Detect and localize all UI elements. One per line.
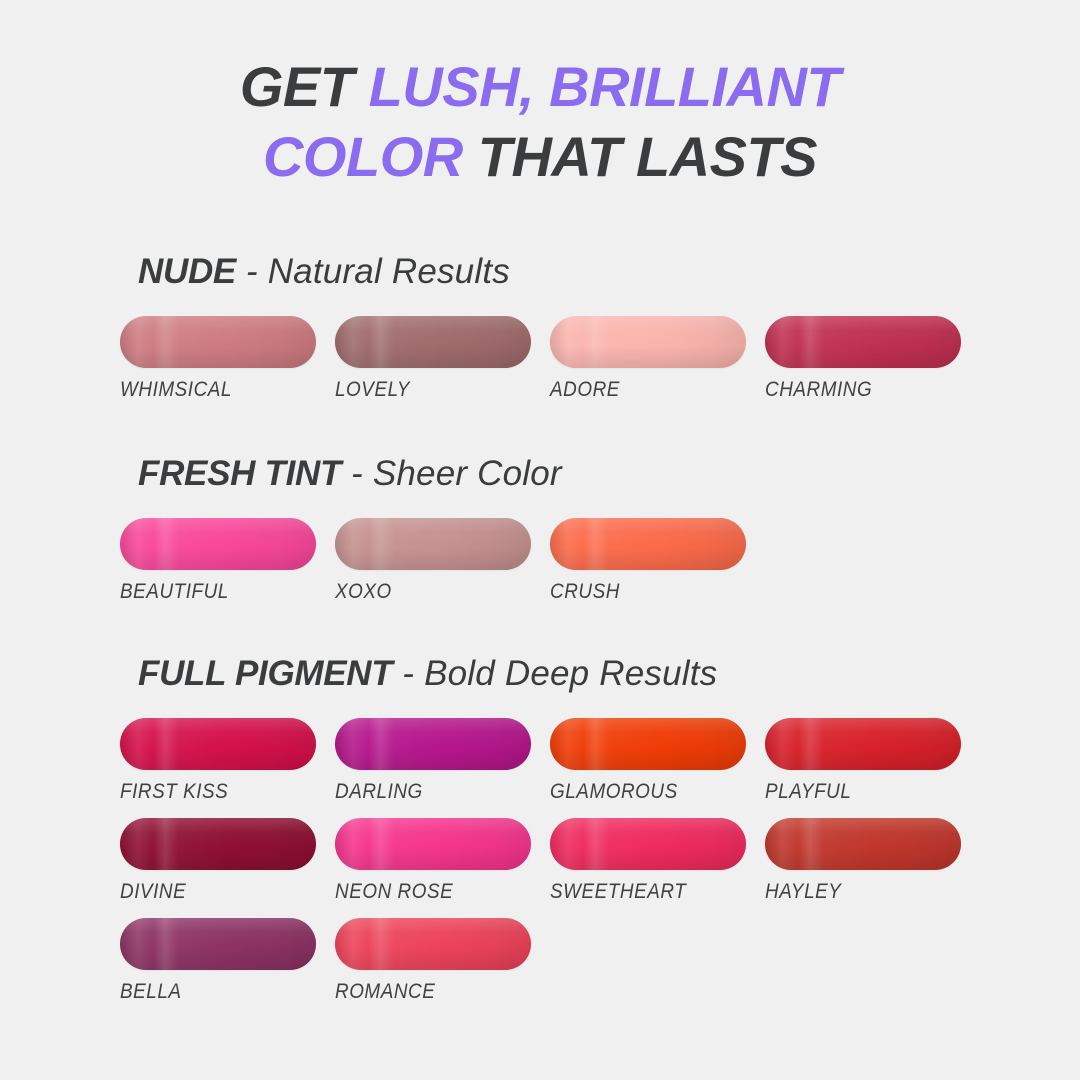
swatch-gloss-icon	[120, 818, 316, 870]
shade-name: WHIMSICAL	[120, 378, 232, 402]
swatch-row-fresh-tint-1: BEAUTIFUL XOXO CRUSH	[120, 518, 1020, 618]
category-heading-nude: NUDE - Natural Results	[138, 252, 510, 292]
shade-swatch[interactable]	[120, 718, 316, 770]
shade-name: ADORE	[550, 378, 620, 402]
shade-swatch[interactable]	[550, 316, 746, 368]
page-title-line-2-plain: THAT LASTS	[478, 125, 817, 188]
page-title-line-2-accent: COLOR	[263, 125, 478, 188]
page-title-line-2: COLOR THAT LASTS	[0, 122, 1080, 192]
shade-name: HAYLEY	[765, 880, 841, 904]
swatch-gloss-icon	[335, 518, 531, 570]
shade-name: BEAUTIFUL	[120, 580, 229, 604]
shade-name: BELLA	[120, 980, 182, 1004]
swatch-gloss-icon	[335, 718, 531, 770]
page-title-line-1-plain: GET	[240, 55, 369, 118]
swatch-gloss-icon	[335, 818, 531, 870]
category-description: - Sheer Color	[341, 454, 562, 493]
swatch-gloss-icon	[765, 718, 961, 770]
swatch-cell[interactable]: NEON ROSE	[335, 818, 531, 918]
shade-name: ROMANCE	[335, 980, 435, 1004]
shade-swatch[interactable]	[335, 818, 531, 870]
shade-name: DARLING	[335, 780, 423, 804]
swatch-gloss-icon	[120, 718, 316, 770]
shade-swatch[interactable]	[550, 518, 746, 570]
shade-swatch[interactable]	[765, 818, 961, 870]
shade-name: CHARMING	[765, 378, 872, 402]
shade-swatch[interactable]	[335, 518, 531, 570]
shade-name: SWEETHEART	[550, 880, 686, 904]
shade-swatch[interactable]	[335, 316, 531, 368]
swatch-gloss-icon	[120, 518, 316, 570]
category-name: NUDE	[138, 252, 236, 291]
swatch-cell[interactable]: DARLING	[335, 718, 531, 818]
swatch-cell[interactable]: HAYLEY	[765, 818, 961, 918]
category-name: FRESH TINT	[138, 454, 341, 493]
shade-swatch[interactable]	[335, 718, 531, 770]
swatch-gloss-icon	[335, 918, 531, 970]
swatch-cell[interactable]: ADORE	[550, 316, 746, 416]
shade-name: LOVELY	[335, 378, 410, 402]
swatch-row-full-pigment-1: FIRST KISS DARLING GLAMOROUS PLAYFUL	[120, 718, 1020, 818]
category-description: - Bold Deep Results	[392, 654, 717, 693]
shade-name: NEON ROSE	[335, 880, 453, 904]
swatch-gloss-icon	[550, 518, 746, 570]
swatch-gloss-icon	[550, 316, 746, 368]
swatch-cell[interactable]: GLAMOROUS	[550, 718, 746, 818]
swatch-gloss-icon	[120, 918, 316, 970]
swatch-gloss-icon	[765, 818, 961, 870]
swatch-gloss-icon	[550, 818, 746, 870]
swatch-cell[interactable]: BELLA	[120, 918, 316, 1018]
swatch-cell[interactable]: SWEETHEART	[550, 818, 746, 918]
category-heading-full-pigment: FULL PIGMENT - Bold Deep Results	[138, 654, 717, 694]
swatch-cell[interactable]: LOVELY	[335, 316, 531, 416]
swatch-gloss-icon	[550, 718, 746, 770]
swatch-cell[interactable]: XOXO	[335, 518, 531, 618]
page-title: GET LUSH, BRILLIANT COLOR THAT LASTS	[0, 52, 1080, 192]
shade-name: FIRST KISS	[120, 780, 228, 804]
shade-swatch[interactable]	[120, 518, 316, 570]
shade-swatch[interactable]	[550, 818, 746, 870]
swatch-gloss-icon	[120, 316, 316, 368]
swatch-cell[interactable]: DIVINE	[120, 818, 316, 918]
page-title-line-1-accent: LUSH, BRILLIANT	[369, 55, 841, 118]
shade-name: XOXO	[335, 580, 392, 604]
category-heading-fresh-tint: FRESH TINT - Sheer Color	[138, 454, 562, 494]
swatch-cell[interactable]: WHIMSICAL	[120, 316, 316, 416]
swatch-cell[interactable]: PLAYFUL	[765, 718, 961, 818]
shade-swatch[interactable]	[550, 718, 746, 770]
shade-name: GLAMOROUS	[550, 780, 678, 804]
shade-swatch[interactable]	[335, 918, 531, 970]
category-name: FULL PIGMENT	[138, 654, 392, 693]
shade-name: PLAYFUL	[765, 780, 851, 804]
swatch-cell[interactable]: BEAUTIFUL	[120, 518, 316, 618]
swatch-row-full-pigment-3: BELLA ROMANCE	[120, 918, 1020, 1018]
shade-swatch[interactable]	[120, 918, 316, 970]
swatch-cell[interactable]: FIRST KISS	[120, 718, 316, 818]
page-title-line-1: GET LUSH, BRILLIANT	[0, 52, 1080, 122]
swatch-gloss-icon	[765, 316, 961, 368]
shade-name: CRUSH	[550, 580, 620, 604]
swatch-row-full-pigment-2: DIVINE NEON ROSE SWEETHEART HAYLEY	[120, 818, 1020, 918]
swatch-row-nude-1: WHIMSICAL LOVELY ADORE CHARMING	[120, 316, 1020, 416]
swatch-cell[interactable]: ROMANCE	[335, 918, 531, 1018]
shade-swatch[interactable]	[120, 818, 316, 870]
swatch-gloss-icon	[335, 316, 531, 368]
shade-swatch[interactable]	[765, 316, 961, 368]
shade-swatch[interactable]	[120, 316, 316, 368]
shade-swatch[interactable]	[765, 718, 961, 770]
shade-name: DIVINE	[120, 880, 186, 904]
swatch-cell[interactable]: CRUSH	[550, 518, 746, 618]
swatch-cell[interactable]: CHARMING	[765, 316, 961, 416]
poster-canvas: GET LUSH, BRILLIANT COLOR THAT LASTS NUD…	[0, 0, 1080, 1080]
category-description: - Natural Results	[236, 252, 510, 291]
